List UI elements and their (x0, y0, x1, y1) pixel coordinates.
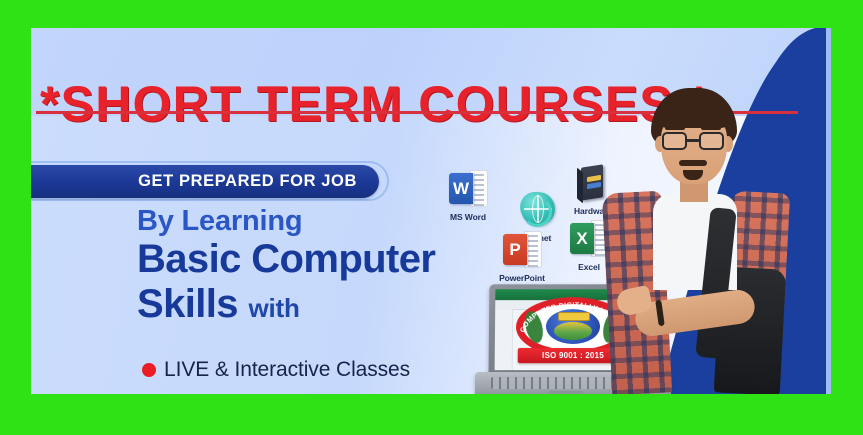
laptop-trackpad (549, 391, 583, 394)
ms-word-glyph: W (447, 170, 489, 210)
eyeglass-lens-left (662, 132, 687, 150)
ms-word-label: MS Word (437, 212, 499, 222)
eyeglass-lens-right (699, 132, 724, 150)
ms-word-icon: W MS Word (437, 170, 499, 222)
promotional-banner: *SHORT TERM COURSES * GET PREPARED FOR J… (0, 0, 863, 435)
headline-line-2: Basic Computer (137, 237, 497, 282)
eyebrow-left (665, 126, 685, 130)
hair-fringe (655, 98, 733, 128)
badge-label: GET PREPARED FOR JOB (138, 172, 357, 191)
word-tile: W (449, 173, 473, 204)
banner-canvas: *SHORT TERM COURSES * GET PREPARED FOR J… (31, 28, 831, 394)
powerpoint-glyph: P (501, 231, 543, 271)
internet-glyph (515, 191, 557, 231)
emblem-iso-label: ISO 9001 : 2015 (542, 351, 604, 360)
bullet-row: LIVE & Interactive Classes (142, 358, 410, 382)
eyebrow-right (701, 126, 721, 130)
student-photo (599, 88, 829, 394)
powerpoint-icon: P PowerPoint (491, 231, 553, 283)
headline-line-3-suffix: with (248, 293, 299, 323)
bullet-label: LIVE & Interactive Classes (164, 358, 410, 382)
bullet-dot-icon (142, 363, 156, 377)
excel-tile: X (570, 223, 594, 254)
powerpoint-label: PowerPoint (491, 273, 553, 283)
tower-side (577, 168, 583, 204)
refresh-arrow-lower (522, 197, 552, 227)
headline-line-3: Skills with (137, 282, 497, 327)
headline-line-3-main: Skills (137, 282, 238, 326)
get-prepared-badge[interactable]: GET PREPARED FOR JOB (31, 165, 379, 198)
eyeglass-bridge (687, 139, 699, 142)
moustache (679, 160, 707, 166)
ppt-tile: P (503, 234, 527, 265)
headline-copy-block: By Learning Basic Computer Skills with (137, 206, 497, 327)
